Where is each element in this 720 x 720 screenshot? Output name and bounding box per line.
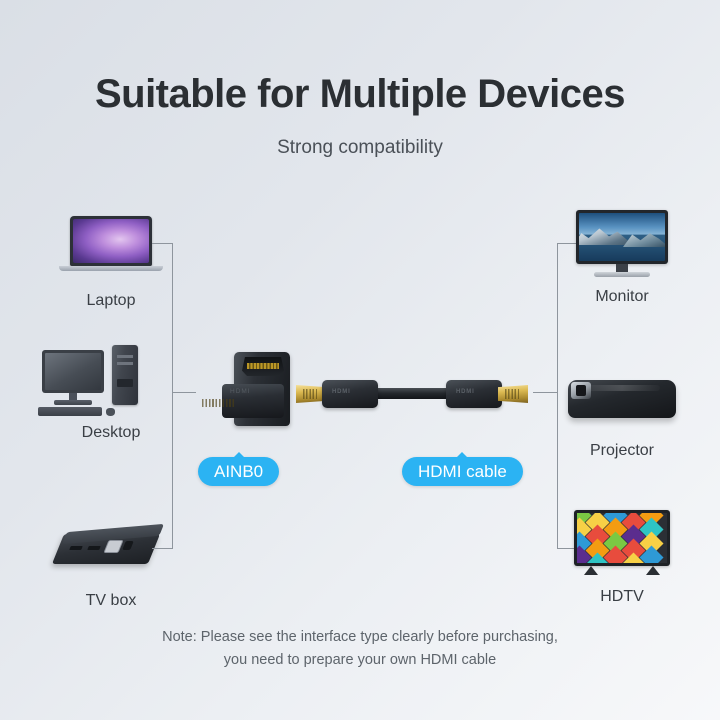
- page-subtitle: Strong compatibility: [0, 137, 720, 159]
- monitor-stand: [594, 272, 650, 277]
- device-laptop: Laptop: [36, 212, 186, 310]
- footnote-line-2: you need to prepare your own HDMI cable: [60, 649, 660, 672]
- tv-box-slot: [69, 546, 83, 550]
- desktop-mouse: [106, 408, 115, 416]
- device-label: Desktop: [36, 424, 186, 442]
- laptop-screen: [70, 216, 152, 266]
- projector-lens: [571, 382, 591, 399]
- footnote: Note: Please see the interface type clea…: [60, 626, 660, 672]
- device-projector: Projector: [547, 362, 697, 460]
- projector-icon: [547, 362, 697, 434]
- adapter-male-hdmi-plug: [196, 392, 240, 414]
- hdmi-right-angle-adapter-icon: HDMI: [196, 352, 292, 430]
- adapter-callout-badge[interactable]: AINB0: [198, 457, 279, 486]
- page-title: Suitable for Multiple Devices: [0, 72, 720, 117]
- device-tv-box: TV box: [36, 512, 186, 610]
- hdtv-legs: [574, 566, 670, 576]
- device-label: Monitor: [547, 288, 697, 306]
- cable-callout-badge[interactable]: HDMI cable: [402, 457, 523, 486]
- adapter-female-hdmi-port: [242, 357, 284, 376]
- hdtv-screen: [574, 510, 670, 566]
- laptop-icon: [36, 212, 186, 284]
- device-desktop: Desktop: [36, 344, 186, 442]
- desktop-monitor: [42, 350, 104, 393]
- device-label: Projector: [547, 442, 697, 460]
- device-label: HDTV: [547, 588, 697, 606]
- desktop-tower: [112, 345, 138, 405]
- hdtv-icon: [547, 508, 697, 580]
- device-hdtv: HDTV: [547, 508, 697, 606]
- device-label: TV box: [36, 592, 186, 610]
- footnote-line-1: Note: Please see the interface type clea…: [60, 626, 660, 649]
- cable-housing-left: HDMI: [322, 380, 378, 408]
- hdmi-cable-icon: HDMI HDMI: [296, 374, 528, 414]
- device-monitor: Monitor: [547, 208, 697, 306]
- monitor-screen: [576, 210, 668, 264]
- tv-box-slot: [87, 546, 101, 550]
- device-label: Laptop: [36, 292, 186, 310]
- cable-plug-right-gold: [498, 385, 528, 403]
- hdtv-mosaic-wallpaper: [577, 513, 667, 563]
- desktop-keyboard: [38, 407, 102, 416]
- infographic-canvas: Suitable for Multiple Devices Strong com…: [0, 0, 720, 720]
- laptop-base: [59, 266, 163, 271]
- monitor-icon: [547, 208, 697, 280]
- cable-housing-right: HDMI: [446, 380, 502, 408]
- desktop-monitor-stand: [54, 400, 92, 405]
- desktop-computer-icon: [36, 344, 186, 416]
